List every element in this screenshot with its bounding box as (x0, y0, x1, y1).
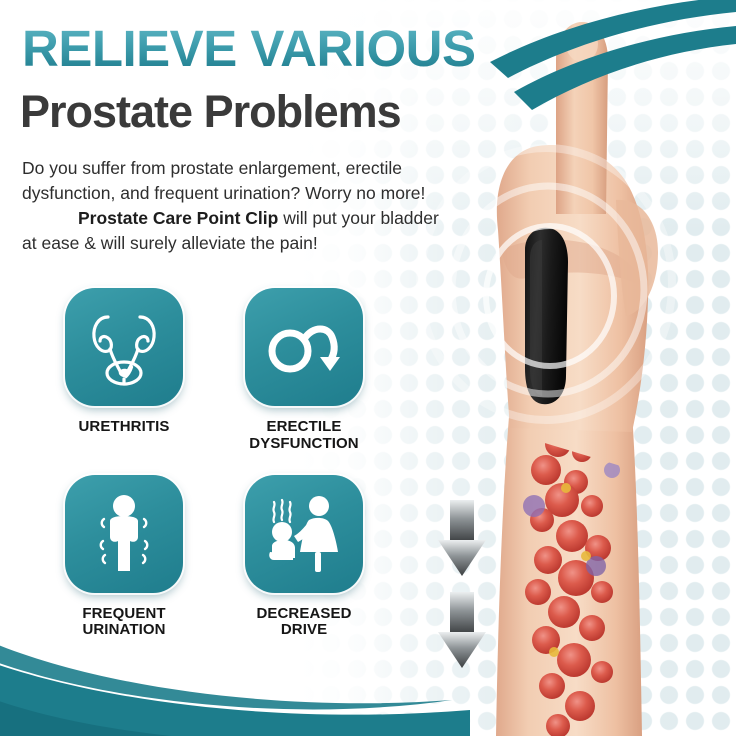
male-symbol-drooping-icon (264, 317, 344, 377)
feature-tile-decreased-drive[interactable] (245, 475, 363, 593)
downward-flow-arrows (438, 500, 486, 668)
feature-row-bottom: FREQUENT URINATION (62, 475, 392, 640)
black-clip-device (525, 228, 568, 405)
feature-row-top: URETHRITIS ERECTILE DYSFUNCTION (62, 288, 392, 453)
product-name: Prostate Care Point Clip (78, 208, 278, 228)
body-copy: Do you suffer from prostate enlargement,… (22, 156, 462, 255)
feature-urethritis[interactable]: URETHRITIS (62, 288, 186, 453)
feature-tile-grid: URETHRITIS ERECTILE DYSFUNCTION (62, 288, 392, 649)
feature-tile-erectile-dysfunction[interactable] (245, 288, 363, 406)
headline: RELIEVE VARIOUS (22, 22, 475, 75)
man-figure (269, 522, 295, 560)
person-holding-bladder-icon (86, 493, 162, 575)
hand-illustration (406, 0, 736, 736)
feature-tile-frequent-urination[interactable] (65, 475, 183, 593)
feature-frequent-urination[interactable]: FREQUENT URINATION (62, 475, 186, 640)
arrow-bottom (438, 592, 486, 668)
feature-decreased-drive[interactable]: DECREASED DRIVE (242, 475, 366, 640)
urinary-tract-icon (86, 307, 162, 387)
feature-tile-urethritis[interactable] (65, 288, 183, 406)
feature-label-decreased-drive: DECREASED DRIVE (256, 606, 351, 640)
subheadline: Prostate Problems (20, 88, 401, 135)
feature-erectile-dysfunction[interactable]: ERECTILE DYSFUNCTION (242, 288, 366, 453)
disinterested-couple-icon (262, 494, 346, 574)
body-line-3-tail: will put your bladder (278, 208, 439, 228)
steam-squiggles (273, 500, 290, 522)
body-line-2: dysfunction, and frequent urination? Wor… (22, 183, 425, 203)
feature-label-urethritis: URETHRITIS (79, 419, 170, 436)
feature-label-frequent-urination: FREQUENT URINATION (82, 606, 165, 640)
arrow-top (438, 500, 486, 576)
fingernail (566, 26, 598, 62)
hand-product-photo (406, 0, 736, 736)
woman-figure (294, 496, 338, 572)
body-line-4: at ease & will surely alleviate the pain… (22, 233, 318, 253)
feature-label-erectile-dysfunction: ERECTILE DYSFUNCTION (249, 419, 358, 453)
advertisement-poster: RELIEVE VARIOUS Prostate Problems Do you… (0, 0, 736, 736)
body-line-1: Do you suffer from prostate enlargement,… (22, 158, 402, 178)
